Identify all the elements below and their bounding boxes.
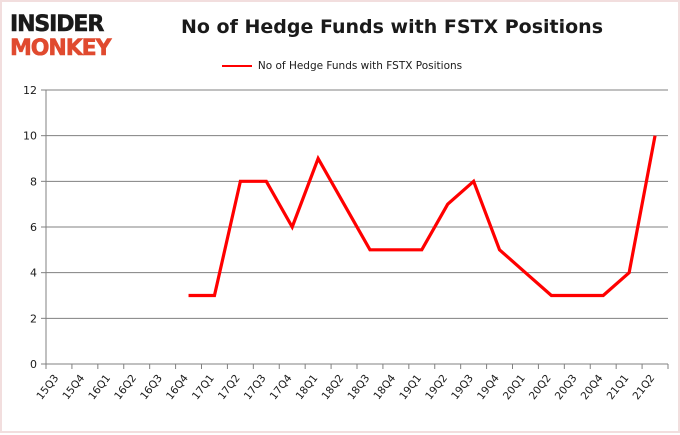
y-axis-tick-label: 4 xyxy=(30,267,37,280)
x-axis-tick-label: 16Q3 xyxy=(138,372,165,402)
x-axis-tick-label: 20Q4 xyxy=(579,372,606,402)
x-axis-tick-label: 15Q3 xyxy=(34,372,61,402)
y-axis-tick-label: 10 xyxy=(23,130,37,143)
x-axis-tick-label: 20Q1 xyxy=(501,372,528,402)
data-series-line xyxy=(189,136,656,296)
logo-text-monkey: MONKEY xyxy=(10,38,110,60)
chart-title: No of Hedge Funds with FSTX Positions xyxy=(122,16,662,38)
x-axis-tick-label: 18Q2 xyxy=(320,372,347,402)
y-axis-tick-label: 6 xyxy=(30,221,37,234)
x-axis-tick-label: 18Q4 xyxy=(371,372,398,402)
x-axis-tick-label: 21Q2 xyxy=(631,372,658,402)
y-axis-tick-label: 8 xyxy=(30,175,37,188)
legend-line-swatch xyxy=(222,65,252,67)
x-axis-tick-label: 18Q3 xyxy=(345,372,372,402)
x-axis-tick-label: 18Q1 xyxy=(294,372,321,402)
x-axis-tick-label: 16Q1 xyxy=(86,372,113,402)
x-axis-tick-label: 17Q3 xyxy=(242,372,269,402)
chart-screenshot: INSIDER MONKEY No of Hedge Funds with FS… xyxy=(0,0,680,433)
x-axis-tick-label: 21Q1 xyxy=(605,372,632,402)
x-axis-tick-label: 17Q4 xyxy=(268,372,295,402)
x-axis-tick-label: 16Q2 xyxy=(112,372,139,402)
x-axis-tick-label: 20Q3 xyxy=(553,372,580,402)
y-axis-tick-label: 2 xyxy=(30,312,37,325)
x-axis-tick-label: 20Q2 xyxy=(527,372,554,402)
logo-text-insider: INSIDER xyxy=(10,14,110,36)
legend-label: No of Hedge Funds with FSTX Positions xyxy=(258,60,462,72)
y-axis-tick-label: 12 xyxy=(23,84,37,97)
x-axis-tick-label: 17Q2 xyxy=(216,372,243,402)
x-axis-tick-label: 19Q1 xyxy=(397,372,424,402)
chart-legend: No of Hedge Funds with FSTX Positions xyxy=(2,60,680,72)
x-axis-tick-label: 17Q1 xyxy=(190,372,217,402)
insider-monkey-logo: INSIDER MONKEY xyxy=(10,14,110,60)
x-axis-tick-label: 15Q4 xyxy=(60,372,87,402)
x-axis-tick-label: 19Q3 xyxy=(449,372,476,402)
x-axis-tick-label: 19Q2 xyxy=(423,372,450,402)
x-axis-tick-label: 19Q4 xyxy=(475,372,502,402)
x-axis-tick-label: 16Q4 xyxy=(164,372,191,402)
y-axis-tick-label: 0 xyxy=(30,358,37,371)
